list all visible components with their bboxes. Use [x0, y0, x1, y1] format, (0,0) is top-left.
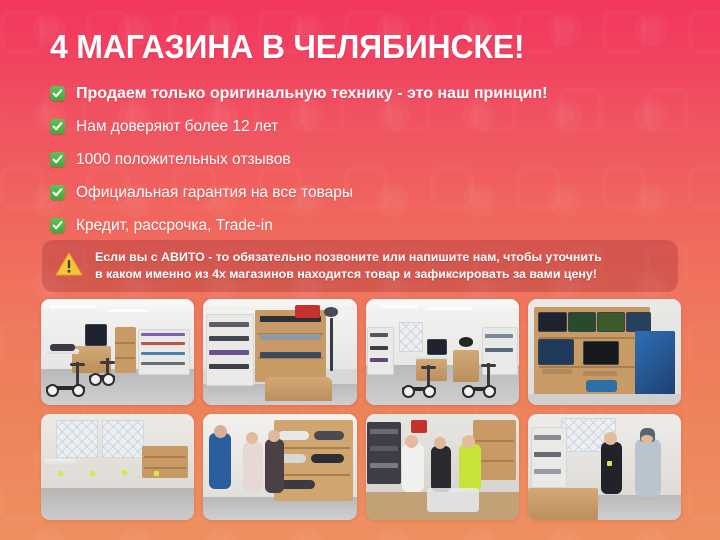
notice-line-1: Если вы с АВИТО - то обязательно позвони… — [95, 249, 602, 266]
check-icon — [50, 218, 65, 233]
notice-text: Если вы с АВИТО - то обязательно позвони… — [95, 249, 602, 283]
check-icon — [50, 152, 65, 167]
benefit-item: Кредит, рассрочка, Trade-in — [50, 209, 680, 242]
check-icon — [50, 119, 65, 134]
avito-notice-box: Если вы с АВИТО - то обязательно позвони… — [42, 240, 678, 292]
check-icon — [50, 185, 65, 200]
gallery-photo[interactable] — [41, 299, 194, 405]
benefit-text: Нам доверяют более 12 лет — [76, 118, 278, 136]
benefit-text: Кредит, рассрочка, Trade-in — [76, 217, 273, 235]
gallery-photo[interactable] — [41, 414, 194, 520]
benefit-item: 1000 положительных отзывов — [50, 143, 680, 176]
gallery-photo[interactable] — [203, 299, 356, 405]
check-icon — [50, 86, 65, 101]
warning-triangle-icon — [55, 251, 83, 282]
benefit-item: Официальная гарантия на все товары — [50, 176, 680, 209]
gallery-photo[interactable] — [366, 299, 519, 405]
benefit-text: Продаем только оригинальную технику - эт… — [76, 85, 547, 103]
benefit-item: Нам доверяют более 12 лет — [50, 110, 680, 143]
benefit-text: 1000 положительных отзывов — [76, 151, 291, 169]
benefit-text: Официальная гарантия на все товары — [76, 184, 353, 202]
photo-gallery — [41, 299, 681, 520]
benefit-item: Продаем только оригинальную технику - эт… — [50, 77, 680, 110]
gallery-photo[interactable] — [366, 414, 519, 520]
page-title: 4 МАГАЗИНА В ЧЕЛЯБИНСКЕ! — [50, 27, 524, 67]
notice-line-2: в каком именно из 4х магазинов находится… — [95, 266, 602, 283]
advertisement-poster: 4 МАГАЗИНА В ЧЕЛЯБИНСКЕ! Продаем только … — [0, 0, 720, 540]
gallery-photo[interactable] — [203, 414, 356, 520]
gallery-photo[interactable] — [528, 299, 681, 405]
gallery-photo[interactable] — [528, 414, 681, 520]
benefits-list: Продаем только оригинальную технику - эт… — [50, 77, 680, 242]
